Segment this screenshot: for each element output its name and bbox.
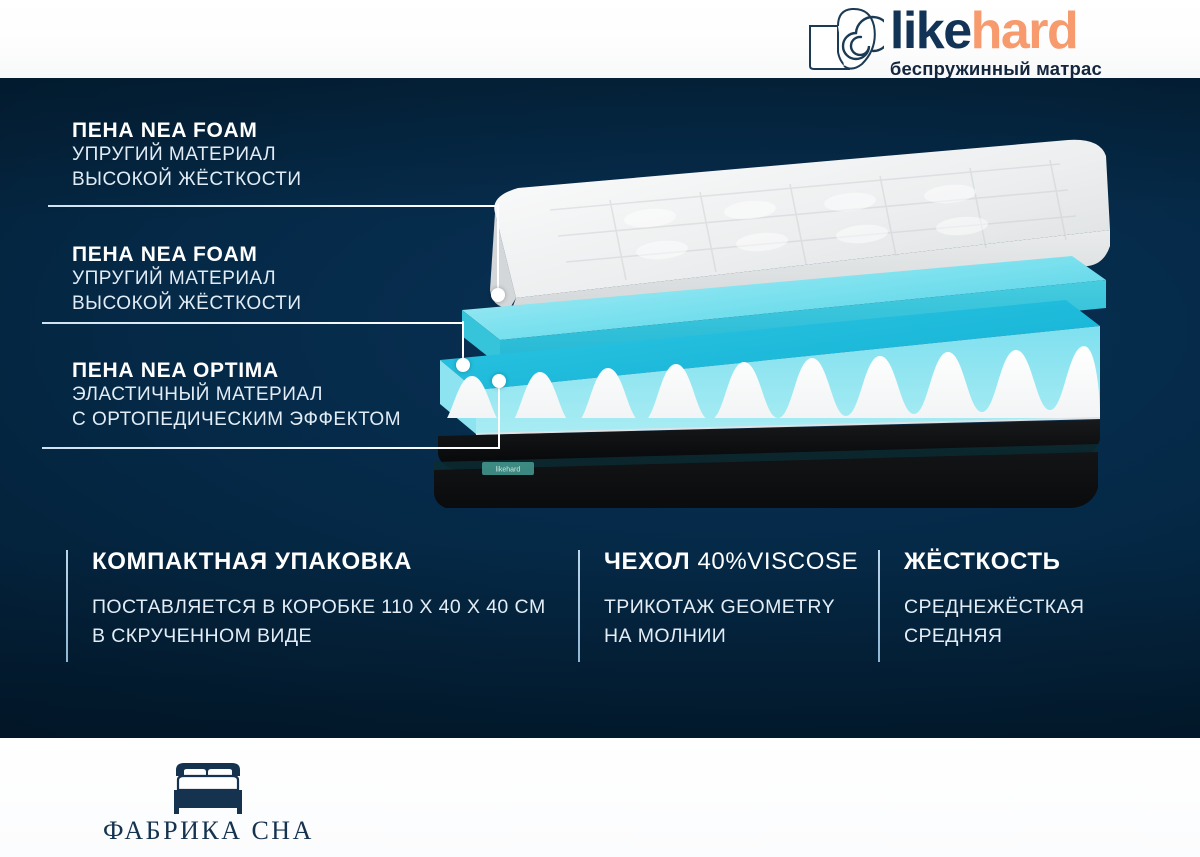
rolled-mattress-icon	[806, 4, 884, 72]
feature-line: СРЕДНЕЖЁСТКАЯ	[904, 593, 1136, 622]
footer-band: ФАБРИКА СНА CM 16 TECHNOLOGY	[0, 738, 1200, 857]
feature-divider	[66, 550, 68, 662]
feature-divider	[578, 550, 580, 662]
spec-line: ЭЛАСТИЧНЫЙ МАТЕРИАЛ	[72, 383, 512, 407]
logo-tagline: беспружинный матрас	[890, 58, 1102, 80]
spec-title: ПЕНА NEA FOAM	[72, 118, 512, 143]
factory-logo: ФАБРИКА СНА	[103, 758, 314, 846]
feature-line: ТРИКОТАЖ GEOMETRY	[604, 593, 878, 622]
feature-heading: КОМПАКТНАЯ УПАКОВКА	[92, 548, 578, 577]
spec-line: С ОРТОПЕДИЧЕСКИМ ЭФФЕКТОМ	[72, 408, 512, 432]
feature-line: СРЕДНЯЯ	[904, 622, 1136, 651]
logo-text-like: like	[890, 2, 971, 60]
spec-block-3: ПЕНА NEA OPTIMA ЭЛАСТИЧНЫЙ МАТЕРИАЛ С ОР…	[72, 358, 512, 432]
spec-block-2: ПЕНА NEA FOAM УПРУГИЙ МАТЕРИАЛ ВЫСОКОЙ Ж…	[72, 242, 512, 316]
feature-line: ПОСТАВЛЯЕТСЯ В КОРОБКЕ 110 X 40 X 40 CM	[92, 593, 578, 622]
bed-icon	[154, 758, 262, 814]
feature-heading-bold: ЧЕХОЛ	[604, 548, 690, 575]
header-band: likehard беспружинный матрас	[0, 0, 1200, 78]
feature-heading-light: 40%VISCOSE	[697, 548, 858, 575]
feature-firmness: ЖЁСТКОСТЬ СРЕДНЕЖЁСТКАЯ СРЕДНЯЯ	[878, 548, 1136, 670]
features-row: КОМПАКТНАЯ УПАКОВКА ПОСТАВЛЯЕТСЯ В КОРОБ…	[66, 548, 1136, 670]
spec-title: ПЕНА NEA FOAM	[72, 242, 512, 267]
spec-rule-1	[48, 205, 498, 207]
feature-heading-bold: ЖЁСТКОСТЬ	[904, 548, 1061, 575]
spec-block-1: ПЕНА NEA FOAM УПРУГИЙ МАТЕРИАЛ ВЫСОКОЙ Ж…	[72, 118, 512, 192]
feature-cover: ЧЕХОЛ 40%VISCOSE ТРИКОТАЖ GEOMETRY НА МО…	[578, 548, 878, 670]
logo-text-hard: hard	[971, 2, 1078, 60]
feature-line: НА МОЛНИИ	[604, 622, 878, 651]
factory-name: ФАБРИКА СНА	[103, 816, 314, 846]
infographic-page: likehard беспружинный матрас	[0, 0, 1200, 857]
feature-heading-bold: КОМПАКТНАЯ УПАКОВКА	[92, 548, 412, 575]
feature-heading: ЧЕХОЛ 40%VISCOSE	[604, 548, 878, 577]
feature-packaging: КОМПАКТНАЯ УПАКОВКА ПОСТАВЛЯЕТСЯ В КОРОБ…	[66, 548, 578, 670]
leader-dot-1	[491, 288, 505, 302]
leader-dot-3	[492, 374, 506, 388]
feature-line: В СКРУЧЕННОМ ВИДЕ	[92, 622, 578, 651]
feature-heading: ЖЁСТКОСТЬ	[904, 548, 1136, 577]
spec-line: ВЫСОКОЙ ЖЁСТКОСТИ	[72, 168, 512, 192]
svg-text:likehard: likehard	[496, 467, 521, 474]
spec-title: ПЕНА NEA OPTIMA	[72, 358, 512, 383]
spec-rule-3	[42, 447, 500, 449]
leader-dot-2	[456, 358, 470, 372]
brand-logo: likehard беспружинный матрас	[806, 4, 1102, 80]
spec-rule-2	[42, 322, 464, 324]
spec-line: ВЫСОКОЙ ЖЁСТКОСТИ	[72, 292, 512, 316]
spec-line: УПРУГИЙ МАТЕРИАЛ	[72, 143, 512, 167]
feature-divider	[878, 550, 880, 662]
spec-line: УПРУГИЙ МАТЕРИАЛ	[72, 267, 512, 291]
